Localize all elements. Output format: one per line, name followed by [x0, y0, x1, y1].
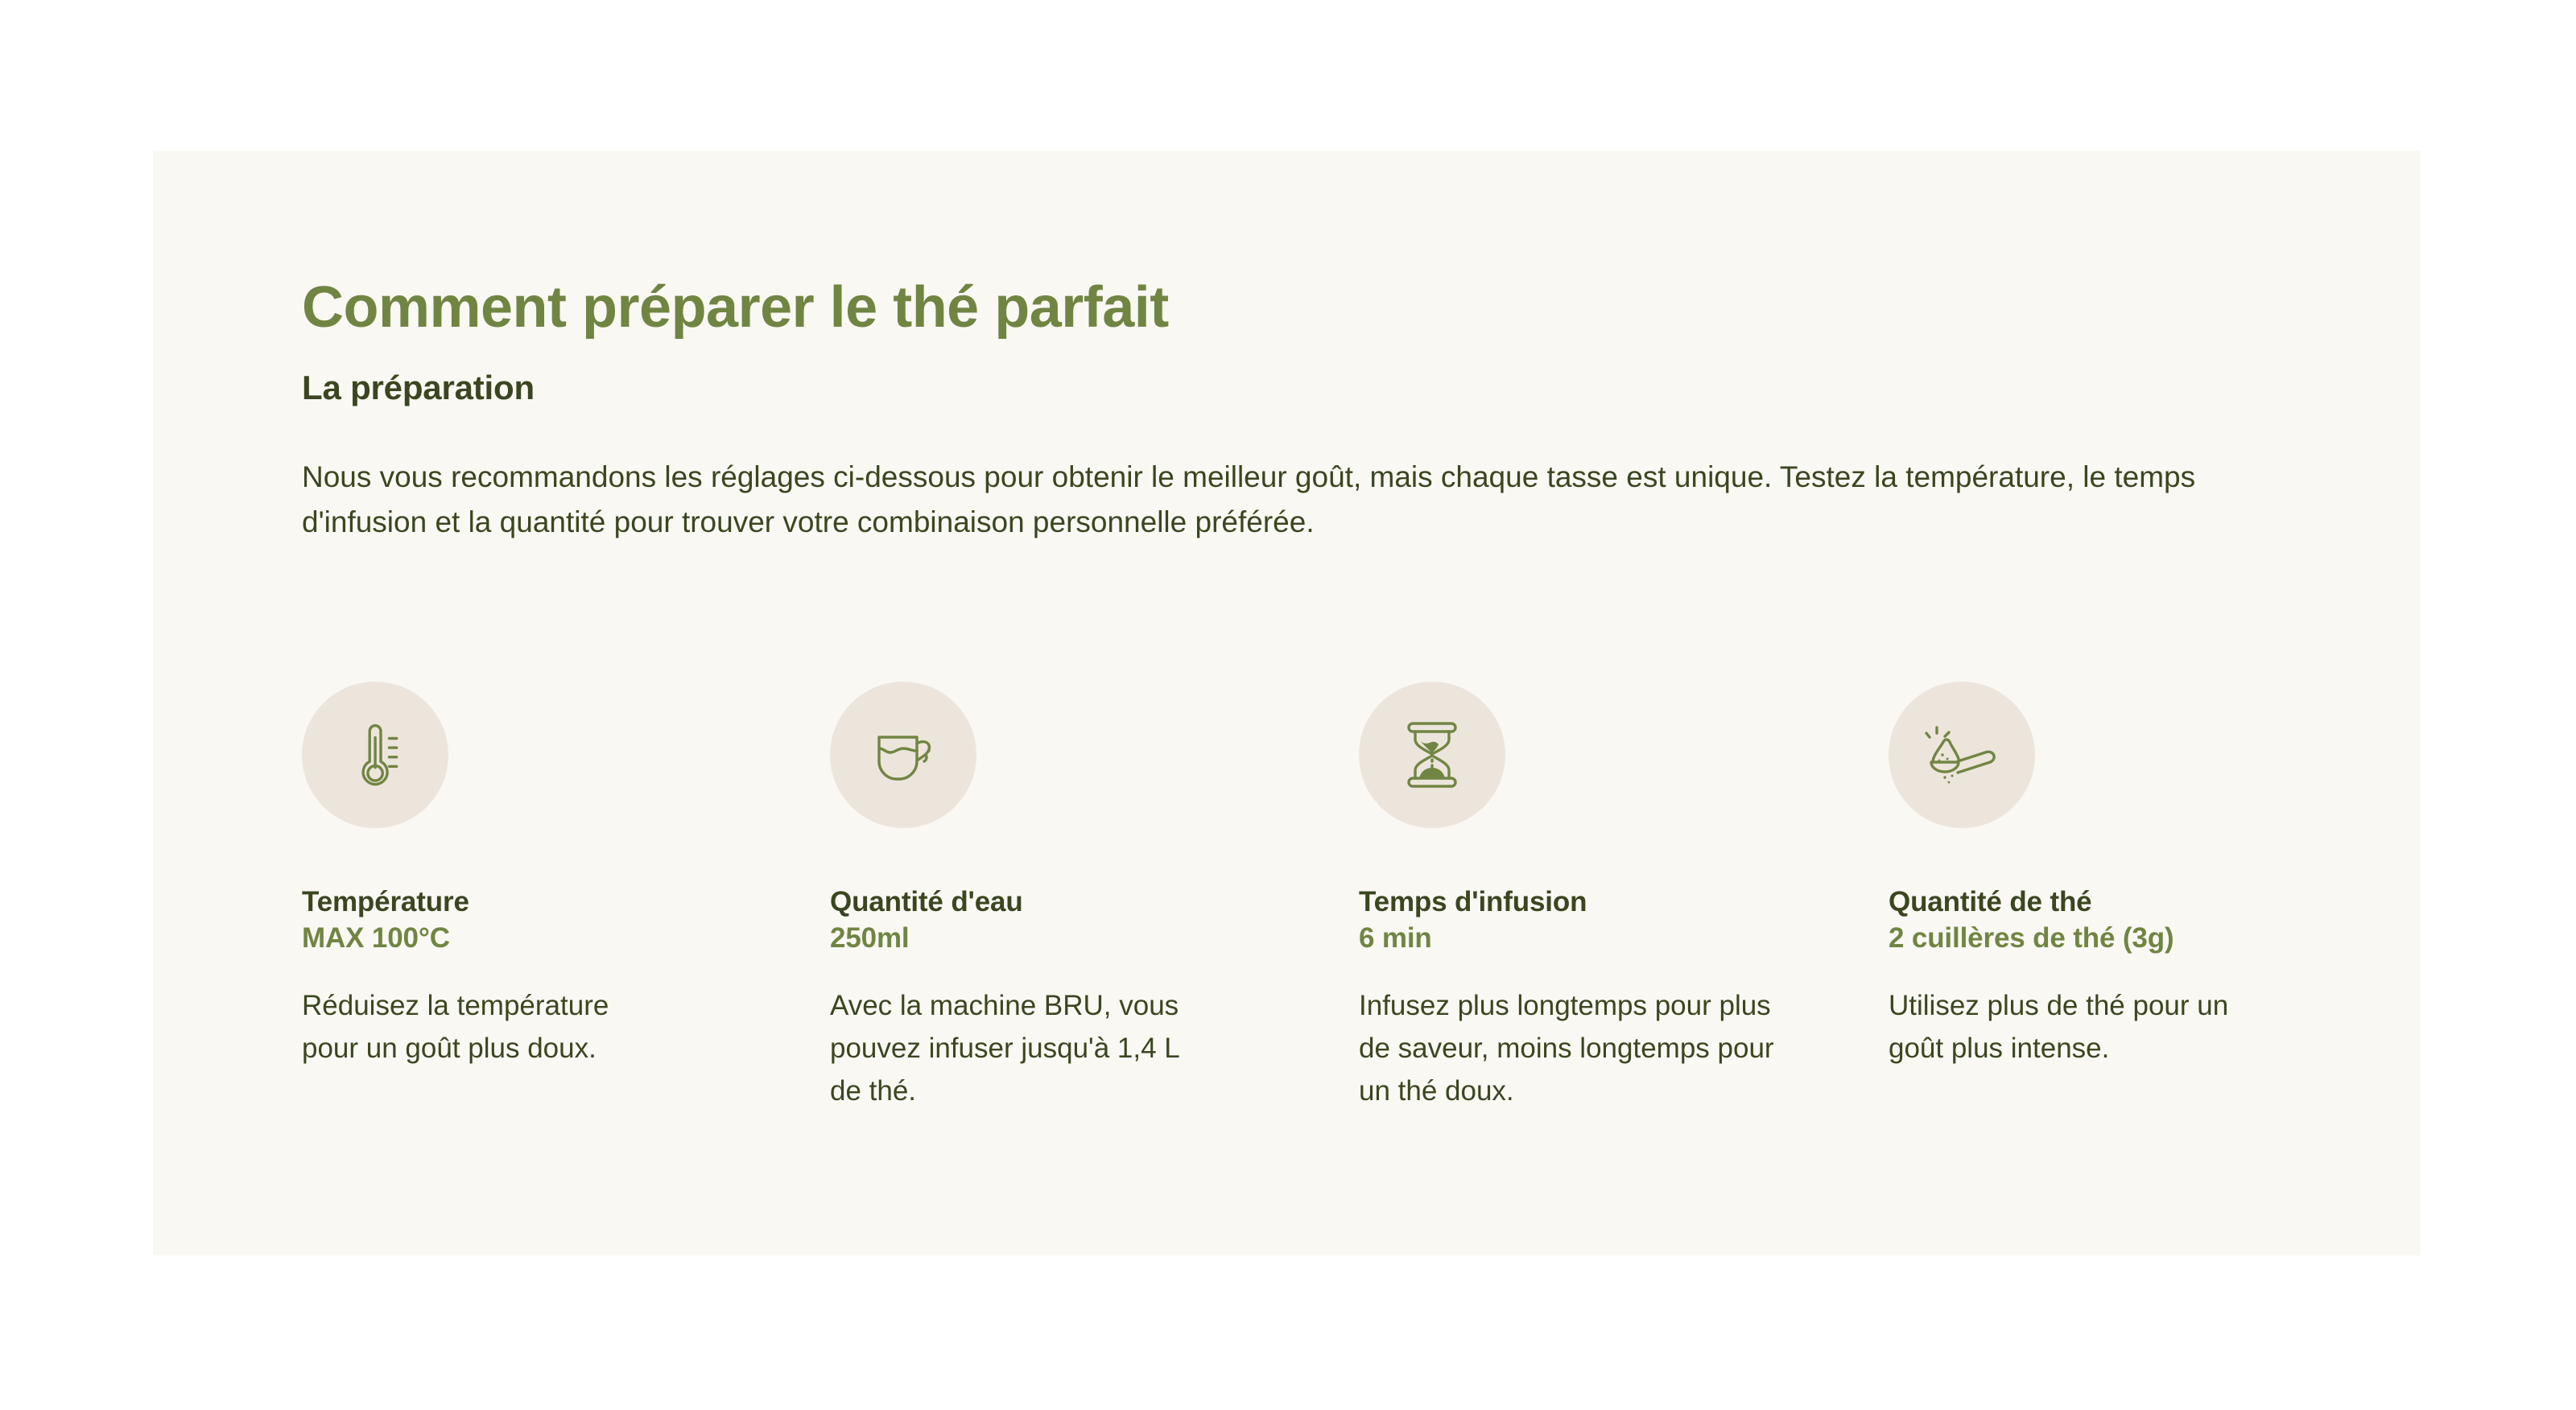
- column-description: Utilisez plus de thé pour un goût plus i…: [1889, 984, 2275, 1070]
- icon-badge: [302, 682, 448, 828]
- column-description: Avec la machine BRU, vous pouvez infuser…: [830, 984, 1208, 1113]
- parameter-column-tea-amount: Quantité de thé 2 cuillères de thé (3g) …: [1889, 682, 2339, 1070]
- column-label: Température: [302, 885, 753, 918]
- parameter-column-temperature: Température MAX 100°C Réduisez la tempér…: [302, 682, 753, 1070]
- column-value: 2 cuillères de thé (3g): [1889, 921, 2339, 954]
- page-subtitle: La préparation: [302, 369, 535, 406]
- icon-badge: [1889, 682, 2035, 828]
- parameter-column-water-amount: Quantité d'eau 250ml Avec la machine BRU…: [830, 682, 1281, 1112]
- page-root: Comment préparer le thé parfait La prépa…: [0, 0, 2576, 1410]
- column-value: 250ml: [830, 921, 1281, 954]
- icon-badge: [1359, 682, 1505, 828]
- preparation-card: Comment préparer le thé parfait La prépa…: [153, 150, 2421, 1255]
- column-label: Temps d'infusion: [1359, 885, 1810, 918]
- tea-cup-icon: [863, 717, 943, 793]
- column-description: Réduisez la température pour un goût plu…: [302, 984, 640, 1070]
- card-content: Comment préparer le thé parfait La prépa…: [302, 150, 2421, 1255]
- column-label: Quantité d'eau: [830, 885, 1281, 918]
- column-description: Infusez plus longtemps pour plus de save…: [1359, 984, 1806, 1113]
- page-title: Comment préparer le thé parfait: [302, 278, 1169, 339]
- hourglass-icon: [1397, 717, 1467, 793]
- parameter-column-steep-time: Temps d'infusion 6 min Infusez plus long…: [1359, 682, 1810, 1112]
- parameter-columns: Température MAX 100°C Réduisez la tempér…: [302, 682, 2427, 1181]
- column-value: MAX 100°C: [302, 921, 753, 954]
- intro-paragraph: Nous vous recommandons les réglages ci-d…: [302, 455, 2234, 545]
- thermometer-icon: [337, 717, 413, 793]
- tea-spoon-icon: [1920, 723, 2004, 787]
- column-value: 6 min: [1359, 921, 1810, 954]
- icon-badge: [830, 682, 976, 828]
- column-label: Quantité de thé: [1889, 885, 2339, 918]
